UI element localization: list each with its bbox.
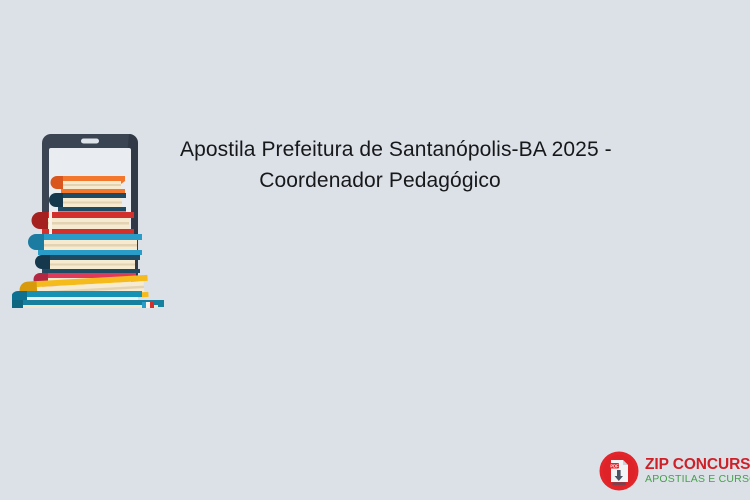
product-title: Apostila Prefeitura de Santanópolis-BA 2… [180,134,580,196]
svg-text:PDF: PDF [610,463,619,468]
product-title-line-2: Coordenador Pedagógico [180,165,580,196]
pdf-download-icon: PDF [599,451,639,491]
product-title-line-1: Apostila Prefeitura de Santanópolis-BA 2… [180,134,580,165]
tablet-with-book-stack-illustration [12,128,172,308]
brand-tagline: APOSTILAS E CURSOS [645,473,750,486]
product-banner: Apostila Prefeitura de Santanópolis-BA 2… [0,0,750,500]
bookmark-white [146,302,150,308]
bookmark-teal [142,302,146,308]
brand-name: ZIP CONCURSOS [645,456,750,473]
bookmark-red [150,302,154,308]
book-stack-graphic [12,176,164,308]
brand-logo-text: ZIP CONCURSOS APOSTILAS E CURSOS [645,456,750,486]
brand-logo[interactable]: PDF ZIP CONCURSOS APOSTILAS E CURSOS [599,450,741,492]
